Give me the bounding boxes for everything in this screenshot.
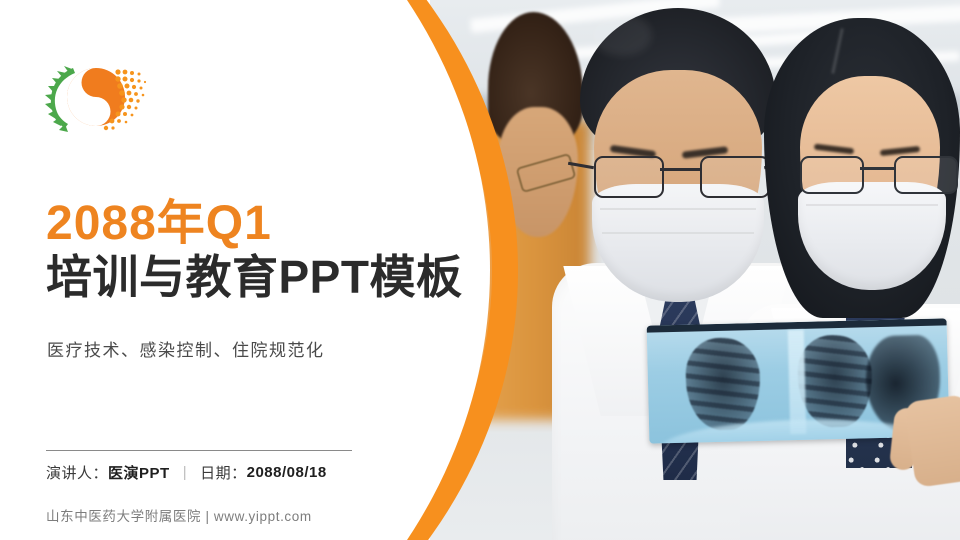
date-label: 日期： <box>200 462 247 483</box>
glasses-icon <box>592 156 770 196</box>
subtitle: 医疗技术、感染控制、住院规范化 <box>47 336 325 361</box>
page-title: 2088年Q1 培训与教育PPT模板 <box>46 198 516 303</box>
title-line-1: 2088年Q1 <box>46 198 516 250</box>
speaker-value: 医演PPT <box>108 462 170 483</box>
spine <box>788 330 807 434</box>
lens <box>800 156 864 194</box>
speaker-label: 演讲人： <box>46 462 108 483</box>
glasses-icon <box>798 156 958 192</box>
hospital-taiji-logo <box>42 58 150 136</box>
title-content-panel: 2088年Q1 培训与教育PPT模板 医疗技术、感染控制、住院规范化 演讲人： … <box>0 0 430 540</box>
date-value: 2088/08/18 <box>247 464 327 481</box>
glasses-bridge <box>860 167 896 170</box>
title-line-2: 培训与教育PPT模板 <box>46 252 516 304</box>
meta-separator: | <box>183 464 187 481</box>
divider <box>46 450 352 451</box>
glasses-temple <box>568 162 594 169</box>
lens <box>594 156 664 198</box>
presenter-meta: 演讲人： 医演PPT | 日期： 2088/08/18 <box>46 462 327 483</box>
lung-right <box>797 334 873 428</box>
lung-left <box>685 337 761 431</box>
lens <box>894 156 958 194</box>
presentation-title-slide: 2088年Q1 培训与教育PPT模板 医疗技术、感染控制、住院规范化 演讲人： … <box>0 0 960 540</box>
glasses-bridge <box>660 168 702 171</box>
organization-line: 山东中医药大学附属医院 | www.yippt.com <box>46 505 312 525</box>
